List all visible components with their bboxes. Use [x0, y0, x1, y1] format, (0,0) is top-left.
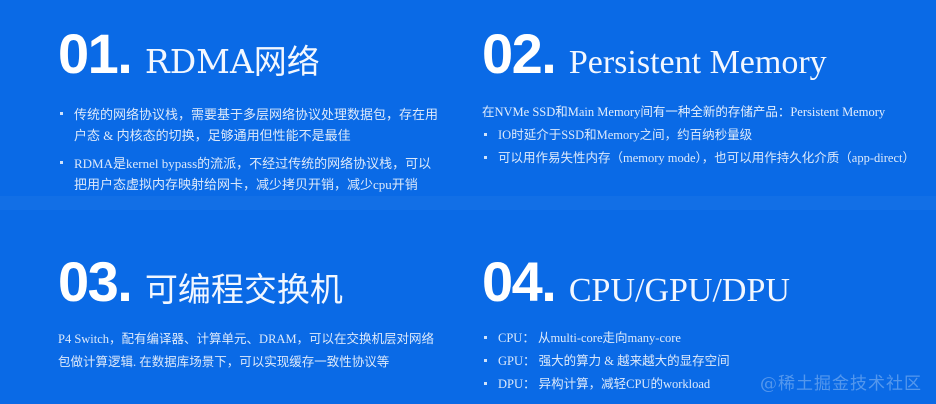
bullet-text: IO时延介于SSD和Memory之间，约百纳秒量级 [498, 128, 752, 142]
bullet-text: GPU： 强大的算力 & 越来越大的显存空间 [498, 354, 730, 368]
section-01: 01. RDMA网络 传统的网络协议栈，需要基于多层网络协议处理数据包，存在用户… [0, 0, 470, 232]
section-02-heading: 02. Persistent Memory [482, 26, 926, 82]
section-03: 03. 可编程交换机 P4 Switch，配有编译器、计算单元、DRAM，可以在… [0, 232, 470, 404]
list-item: RDMA是kernel bypass的流派，不经过传统的网络协议栈，可以把用户态… [58, 153, 442, 196]
sections-grid: 01. RDMA网络 传统的网络协议栈，需要基于多层网络协议处理数据包，存在用户… [0, 0, 936, 404]
section-04-heading: 04. CPU/GPU/DPU [482, 254, 926, 310]
section-01-heading: 01. RDMA网络 [58, 26, 442, 82]
section-03-number: 03. [58, 254, 133, 310]
slide-canvas: 01. RDMA网络 传统的网络协议栈，需要基于多层网络协议处理数据包，存在用户… [0, 0, 936, 404]
list-item: 可以用作易失性内存（memory mode），也可以用作持久化介质（app-di… [482, 148, 926, 169]
section-03-dot: . [117, 250, 133, 313]
bullet-icon [60, 161, 63, 164]
bullet-icon [484, 133, 487, 136]
section-04-dot: . [541, 250, 557, 313]
section-02-title: Persistent Memory [569, 46, 827, 80]
bullet-icon [484, 336, 487, 339]
section-03-body: P4 Switch，配有编译器、计算单元、DRAM，可以在交换机层对网络包做计算… [58, 328, 442, 373]
bullet-text: DPU： 异构计算，减轻CPU的workload [498, 377, 710, 391]
bullet-icon [484, 359, 487, 362]
watermark: @稀土掘金技术社区 [760, 369, 922, 394]
section-02-lead-line: 在NVMe SSD和Main Memory间有一种全新的存储产品：Persist… [482, 102, 926, 123]
bullet-icon [60, 112, 63, 115]
section-02: 02. Persistent Memory 在NVMe SSD和Main Mem… [470, 0, 936, 232]
section-01-bullet-list: 传统的网络协议栈，需要基于多层网络协议处理数据包，存在用户态 & 内核态的切换，… [58, 104, 442, 196]
section-02-body: 在NVMe SSD和Main Memory间有一种全新的存储产品：Persist… [482, 102, 926, 169]
bullet-icon [484, 382, 487, 385]
bullet-text: CPU： 从multi-core走向many-core [498, 331, 681, 345]
section-02-dot: . [541, 22, 557, 85]
list-item: IO时延介于SSD和Memory之间，约百纳秒量级 [482, 125, 926, 146]
section-01-title: RDMA网络 [145, 45, 320, 78]
section-04-title: CPU/GPU/DPU [569, 274, 790, 308]
section-03-paragraph: P4 Switch，配有编译器、计算单元、DRAM，可以在交换机层对网络包做计算… [58, 328, 442, 373]
section-02-bullet-list: IO时延介于SSD和Memory之间，约百纳秒量级 可以用作易失性内存（memo… [482, 125, 926, 169]
bullet-text: RDMA是kernel bypass的流派，不经过传统的网络协议栈，可以把用户态… [74, 156, 431, 192]
bullet-icon [484, 156, 487, 159]
section-03-heading: 03. 可编程交换机 [58, 254, 442, 310]
section-02-number: 02. [482, 26, 557, 82]
list-item: CPU： 从multi-core走向many-core [482, 328, 926, 350]
section-03-title: 可编程交换机 [145, 273, 343, 306]
bullet-text: 可以用作易失性内存（memory mode），也可以用作持久化介质（app-di… [498, 151, 915, 165]
section-01-dot: . [117, 22, 133, 85]
section-01-number: 01. [58, 26, 133, 82]
bullet-text: 传统的网络协议栈，需要基于多层网络协议处理数据包，存在用户态 & 内核态的切换，… [74, 107, 438, 143]
list-item: 传统的网络协议栈，需要基于多层网络协议处理数据包，存在用户态 & 内核态的切换，… [58, 104, 442, 147]
section-04-number: 04. [482, 254, 557, 310]
section-01-body: 传统的网络协议栈，需要基于多层网络协议处理数据包，存在用户态 & 内核态的切换，… [58, 104, 442, 196]
